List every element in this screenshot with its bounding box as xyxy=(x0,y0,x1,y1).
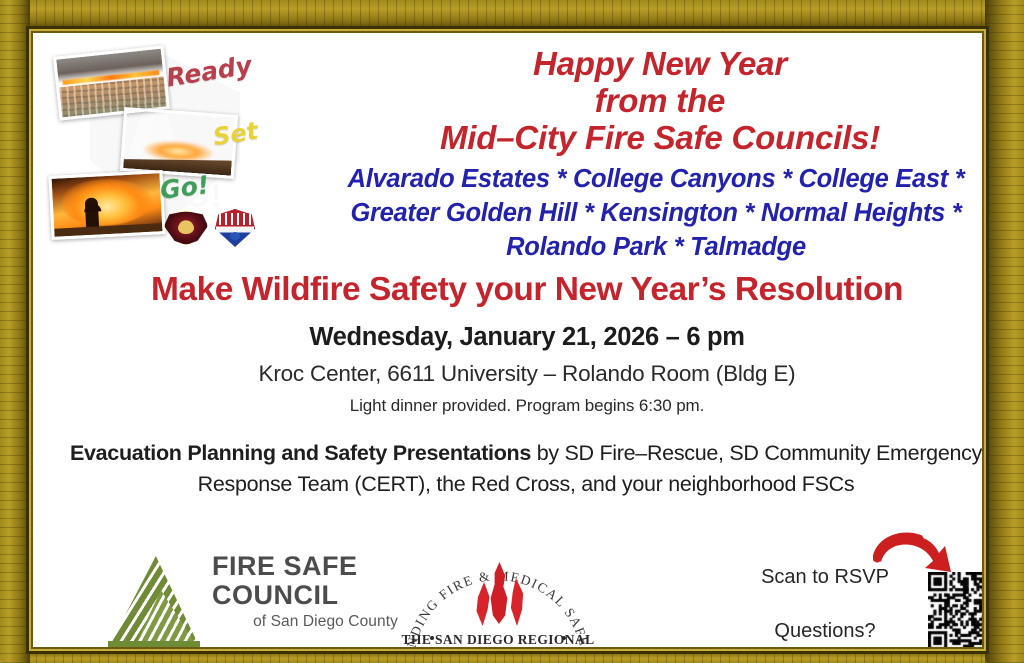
resolution-tagline: Make Wildfire Safety your New Year’s Res… xyxy=(62,272,985,309)
headline-line-3: Mid–City Fire Safe Councils! xyxy=(330,120,985,157)
ff-flame-left xyxy=(474,582,492,626)
photo-blaze-layer xyxy=(60,177,153,227)
ff-flame-icon xyxy=(474,562,526,628)
badge-blue-dot xyxy=(230,232,241,240)
collage-label-go: Go! xyxy=(158,170,210,205)
council-line-2: Greater Golden Hill * Kensington * Norma… xyxy=(306,197,985,231)
frame-right-border xyxy=(985,0,1024,663)
council-line-1: Alvarado Estates * College Canyons * Col… xyxy=(306,163,985,197)
badge-center-emblem xyxy=(178,222,193,234)
presentations-paragraph: Evacuation Planning and Safety Presentat… xyxy=(46,438,985,500)
flyer-page: SET GO! Ready Set Go! xyxy=(0,0,1024,663)
san-diego-regional-fire-foundation-logo: FUNDING FIRE & MEDICAL SAFETY THE SAN DI… xyxy=(398,542,598,650)
qr-code[interactable] xyxy=(928,572,985,650)
event-dinner-note: Light dinner provided. Program begins 6:… xyxy=(62,396,985,416)
fsc-line-3: of San Diego County xyxy=(212,613,398,631)
flyer-content-area: SET GO! Ready Set Go! xyxy=(30,30,985,650)
fsc-wordmark: FIRE SAFE COUNCIL of San Diego County xyxy=(212,552,398,631)
fsc-line-1: FIRE SAFE xyxy=(212,552,398,581)
fsc-line-2: COUNCIL xyxy=(212,581,398,610)
ff-flame-center xyxy=(488,562,510,624)
fsc-tree-mark-icon xyxy=(108,556,200,648)
photo-firefighter-silhouette-flames xyxy=(48,170,165,240)
frame-bottom-border xyxy=(0,650,1024,663)
questions-label: Questions? xyxy=(745,620,905,643)
fsc-baseline xyxy=(108,641,200,648)
frame-left-border xyxy=(0,0,30,663)
event-datetime: Wednesday, January 21, 2026 – 6 pm xyxy=(62,323,985,352)
main-headline: Happy New Year from the Mid–City Fire Sa… xyxy=(330,46,985,157)
frame-top-border xyxy=(0,0,1024,30)
event-location: Kroc Center, 6611 University – Rolando R… xyxy=(62,361,985,387)
presentations-bold-label: Evacuation Planning and Safety Presentat… xyxy=(70,441,531,465)
ff-flame-right xyxy=(508,578,526,626)
council-names-list: Alvarado Estates * College Canyons * Col… xyxy=(306,163,985,265)
ff-line-1: THE SAN DIEGO REGIONAL xyxy=(398,632,598,648)
badge-flame-peaks xyxy=(219,213,251,225)
headline-line-1: Happy New Year xyxy=(330,46,985,83)
ff-line-2: FIRE FOUNDATION xyxy=(398,648,598,650)
headline-line-2: from the xyxy=(330,83,985,120)
rsvp-block: Scan to RSVP Questions? Email talmadgefi… xyxy=(720,528,985,650)
council-line-3: Rolando Park * Talmadge xyxy=(306,231,985,265)
firefighter-body-icon xyxy=(85,198,100,229)
ready-set-go-collage: SET GO! Ready Set Go! xyxy=(52,33,322,263)
photo-ground-layer xyxy=(54,223,162,237)
scan-to-rsvp-label: Scan to RSVP xyxy=(745,566,905,589)
fire-safe-council-logo: FIRE SAFE COUNCIL of San Diego County xyxy=(108,548,398,650)
